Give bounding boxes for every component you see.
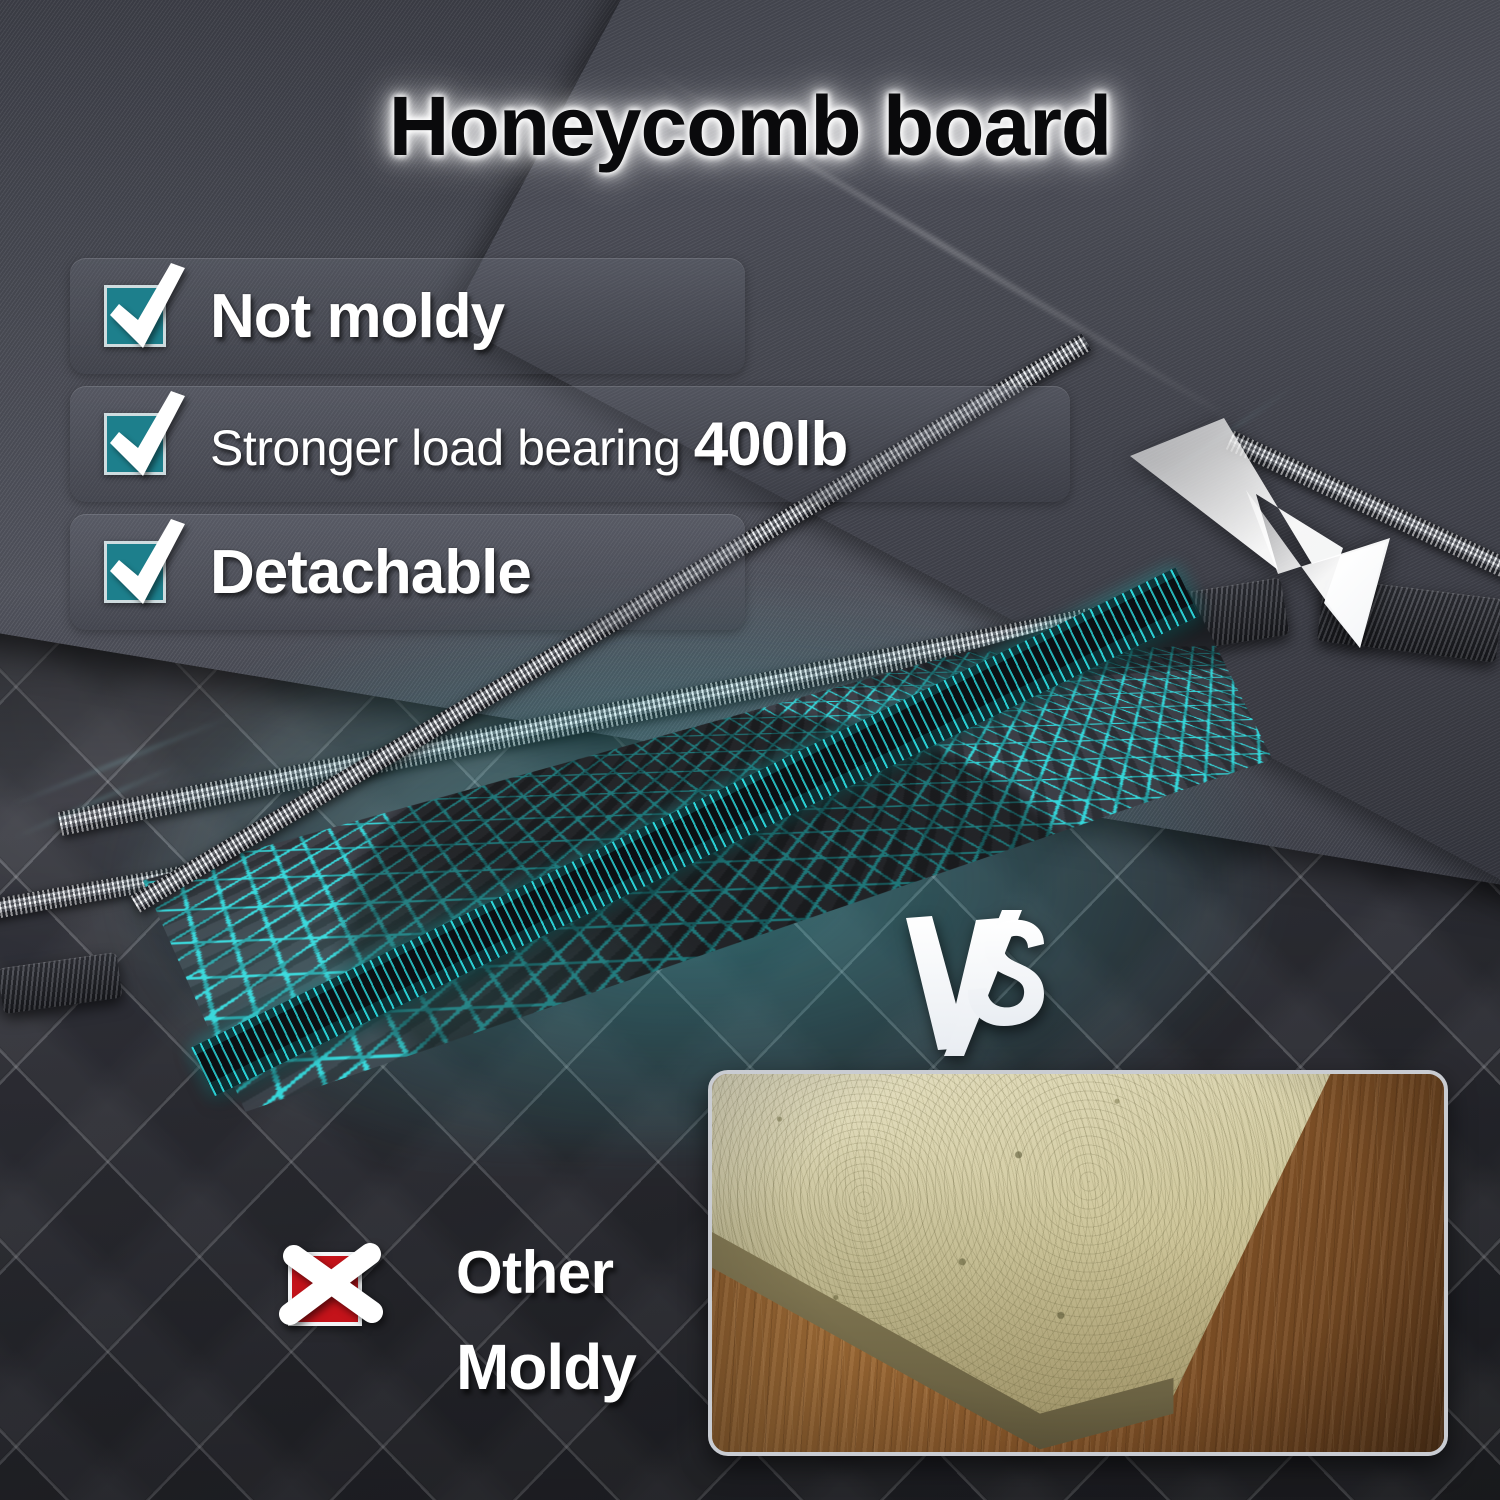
checkmark-icon xyxy=(93,386,197,490)
photo-vignette xyxy=(712,1074,1444,1452)
vs-badge xyxy=(898,908,1068,1058)
reject-label-line1: Other xyxy=(456,1238,614,1307)
checkbox-teal xyxy=(104,541,166,603)
checkbox-teal xyxy=(104,285,166,347)
infographic-canvas: Honeycomb board Not moldy Stronger load … xyxy=(0,0,1500,1500)
checkbox-teal xyxy=(104,413,166,475)
x-mark-icon xyxy=(274,1236,388,1350)
checkmark-icon xyxy=(93,258,197,362)
moldy-board-photo xyxy=(708,1070,1448,1456)
reject-callout: Other Moldy xyxy=(288,1238,708,1458)
feature-label: Not moldy xyxy=(210,281,504,352)
checkmark-icon xyxy=(93,514,197,618)
feature-list: Not moldy Stronger load bearing 400lb De… xyxy=(70,258,1070,642)
feature-label-text: Stronger load bearing xyxy=(210,420,694,476)
arrow-down-right-icon xyxy=(1128,398,1428,668)
feature-item-not-moldy[interactable]: Not moldy xyxy=(70,258,745,374)
feature-label: Stronger load bearing 400lb xyxy=(210,409,847,480)
feature-item-detachable[interactable]: Detachable xyxy=(70,514,745,630)
feature-label-emphasis: 400lb xyxy=(694,410,848,479)
page-title: Honeycomb board xyxy=(0,78,1500,175)
feature-item-load-bearing[interactable]: Stronger load bearing 400lb xyxy=(70,386,1070,502)
feature-label: Detachable xyxy=(210,537,531,608)
reject-label-line2: Moldy xyxy=(456,1330,636,1404)
honeycomb-board xyxy=(93,581,1287,1129)
